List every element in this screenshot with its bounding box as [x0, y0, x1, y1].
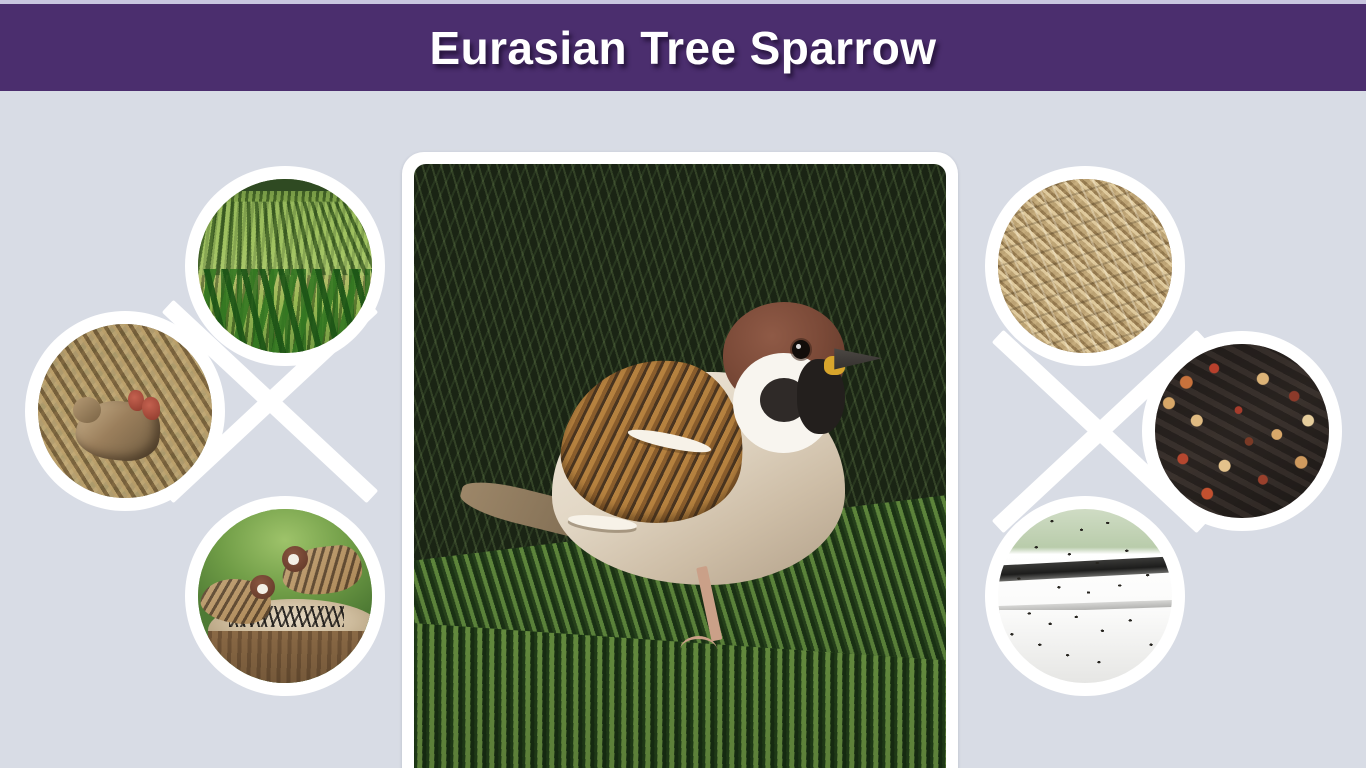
- page-title: Eurasian Tree Sparrow: [430, 21, 937, 75]
- thumb-berries-and-seeds[interactable]: [1142, 331, 1342, 531]
- thumb-berries-and-seeds-photo: [1155, 344, 1329, 518]
- slide-canvas: [0, 91, 1366, 768]
- stump-sparrow-left-cheek: [257, 584, 267, 594]
- thumb-feeding-on-stump[interactable]: [185, 496, 385, 696]
- sparrow-eye: [792, 340, 810, 359]
- main-image-photo: [414, 164, 946, 768]
- thumb-insects-on-sill-photo: [998, 509, 1172, 683]
- sill-scene: [998, 509, 1172, 683]
- thumb-feeding-on-stump-photo: [198, 509, 372, 683]
- title-banner: Eurasian Tree Sparrow: [0, 4, 1366, 91]
- main-image-frame[interactable]: [402, 152, 958, 768]
- cornfield-scene: [198, 179, 372, 353]
- straw-sparrow-head: [73, 397, 101, 423]
- insect-swarm: [998, 509, 1172, 683]
- thumb-nest-in-straw[interactable]: [25, 311, 225, 511]
- thumb-grass-seed[interactable]: [985, 166, 1185, 366]
- thumb-nest-in-straw-photo: [38, 324, 212, 498]
- thumb-insects-on-sill[interactable]: [985, 496, 1185, 696]
- thumb-grass-seed-photo: [998, 179, 1172, 353]
- tree-stump-trunk: [208, 631, 372, 683]
- thumb-cornfield-photo: [198, 179, 372, 353]
- berries-scene: [1155, 344, 1329, 518]
- sparrow-foot: [680, 636, 717, 664]
- sparrow-illustration: [414, 164, 946, 768]
- straw-scene: [38, 324, 212, 498]
- stump-scene: [198, 509, 372, 683]
- straw-chick-2: [142, 397, 159, 420]
- stump-sparrow-right-cheek: [288, 554, 298, 564]
- grass-seed-scene: [998, 179, 1172, 353]
- thumb-cornfield[interactable]: [185, 166, 385, 366]
